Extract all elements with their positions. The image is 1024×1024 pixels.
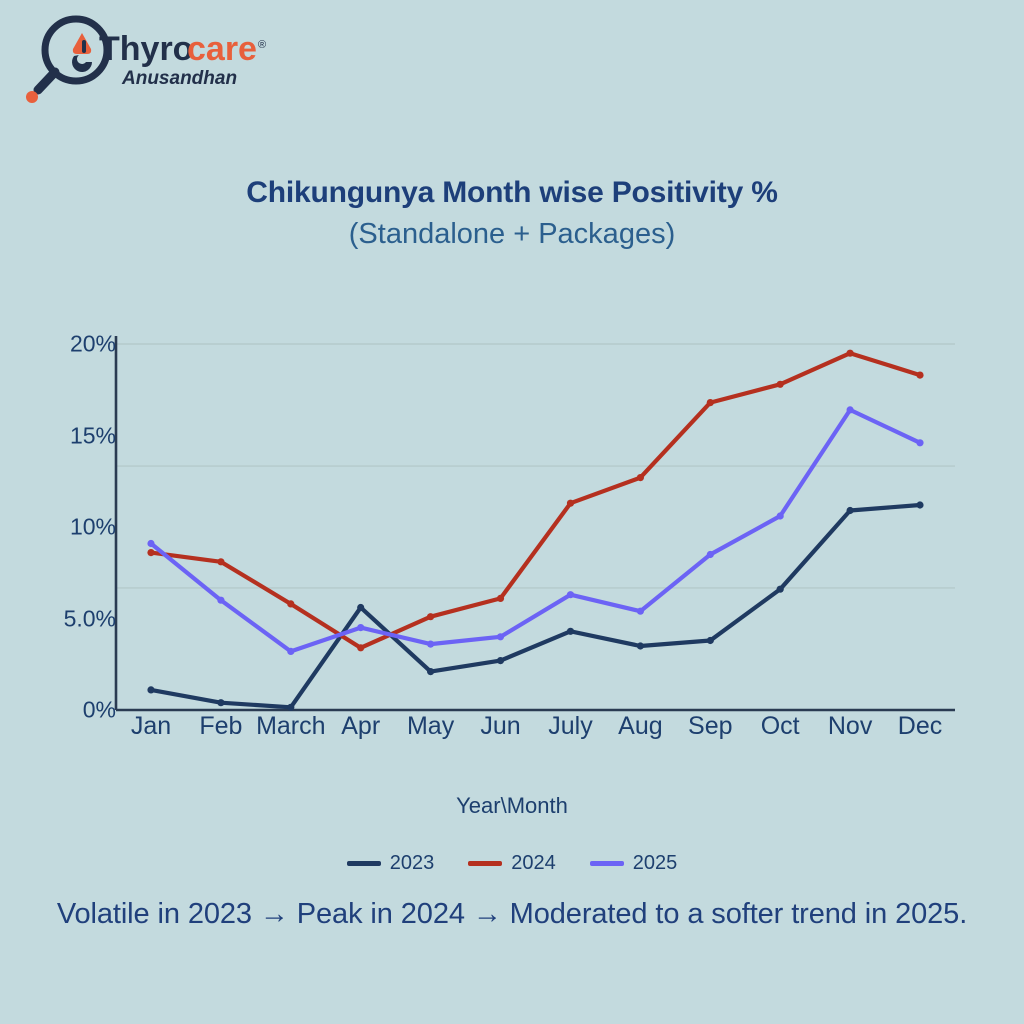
data-point-2024-Sep (707, 399, 714, 406)
data-point-2024-July (567, 500, 574, 507)
data-point-2025-Apr (357, 624, 364, 631)
data-point-2023-Sep (707, 637, 714, 644)
y-axis-tick-label: 10% (70, 514, 116, 541)
legend-swatch-2024 (468, 861, 502, 866)
legend-label-2025: 2025 (633, 852, 678, 875)
y-axis-tick-label: 15% (70, 422, 116, 449)
x-axis-title: Year\Month (0, 793, 1024, 819)
data-point-2025-Nov (847, 406, 854, 413)
data-point-2023-Apr (357, 604, 364, 611)
data-point-2024-Jan (147, 549, 154, 556)
y-axis-tick-label: 20% (70, 331, 116, 358)
data-point-2023-Aug (637, 642, 644, 649)
data-point-2025-July (567, 591, 574, 598)
data-point-2023-Jan (147, 686, 154, 693)
data-point-2025-March (287, 648, 294, 655)
series-line-2024 (151, 353, 920, 648)
legend-item-2024[interactable]: 2024 (468, 852, 556, 875)
data-point-2025-May (427, 641, 434, 648)
data-point-2023-Feb (217, 699, 224, 706)
data-point-2025-Oct (777, 512, 784, 519)
x-axis-tick-label-March: March (256, 712, 325, 741)
data-point-2023-Nov (847, 507, 854, 514)
data-point-2025-Feb (217, 597, 224, 604)
data-point-2023-Jun (497, 657, 504, 664)
data-point-2024-May (427, 613, 434, 620)
legend-swatch-2025 (590, 861, 624, 866)
data-point-2024-Aug (637, 474, 644, 481)
x-axis-tick-label-Jan: Jan (131, 712, 171, 741)
x-axis-tick-label-Feb: Feb (199, 712, 242, 741)
x-axis-tick-label-Nov: Nov (828, 712, 872, 741)
x-axis-tick-label-Jun: Jun (480, 712, 520, 741)
y-axis-tick-label: 0% (83, 697, 116, 724)
data-point-2023-Dec (916, 501, 923, 508)
data-point-2024-Nov (847, 350, 854, 357)
y-axis-tick-label: 5.0% (64, 605, 116, 632)
x-axis-tick-label-May: May (407, 712, 454, 741)
data-point-2025-Jun (497, 633, 504, 640)
x-axis-tick-label-Dec: Dec (898, 712, 942, 741)
data-point-2025-Dec (916, 439, 923, 446)
data-point-2023-May (427, 668, 434, 675)
data-point-2025-Jan (147, 540, 154, 547)
chart-legend: 202320242025 (0, 852, 1024, 875)
legend-item-2025[interactable]: 2025 (590, 852, 678, 875)
data-point-2024-March (287, 600, 294, 607)
data-point-2024-Apr (357, 644, 364, 651)
data-point-2024-Feb (217, 558, 224, 565)
legend-item-2023[interactable]: 2023 (347, 852, 435, 875)
footer-caption: Volatile in 2023 → Peak in 2024 → Modera… (0, 898, 1024, 931)
series-line-2023 (151, 505, 920, 707)
x-axis-tick-label-Sep: Sep (688, 712, 732, 741)
x-axis-tick-label-Aug: Aug (618, 712, 662, 741)
data-point-2023-Oct (777, 586, 784, 593)
data-point-2025-Aug (637, 608, 644, 615)
data-point-2024-Dec (916, 372, 923, 379)
x-axis-tick-label-Oct: Oct (761, 712, 800, 741)
x-axis-tick-label-Apr: Apr (341, 712, 380, 741)
data-point-2025-Sep (707, 551, 714, 558)
data-point-2023-July (567, 628, 574, 635)
legend-label-2023: 2023 (390, 852, 435, 875)
x-axis-tick-label-July: July (548, 712, 592, 741)
data-point-2024-Jun (497, 595, 504, 602)
series-line-2025 (151, 410, 920, 652)
legend-swatch-2023 (347, 861, 381, 866)
data-point-2023-March (287, 704, 294, 711)
legend-label-2024: 2024 (511, 852, 556, 875)
data-point-2024-Oct (777, 381, 784, 388)
